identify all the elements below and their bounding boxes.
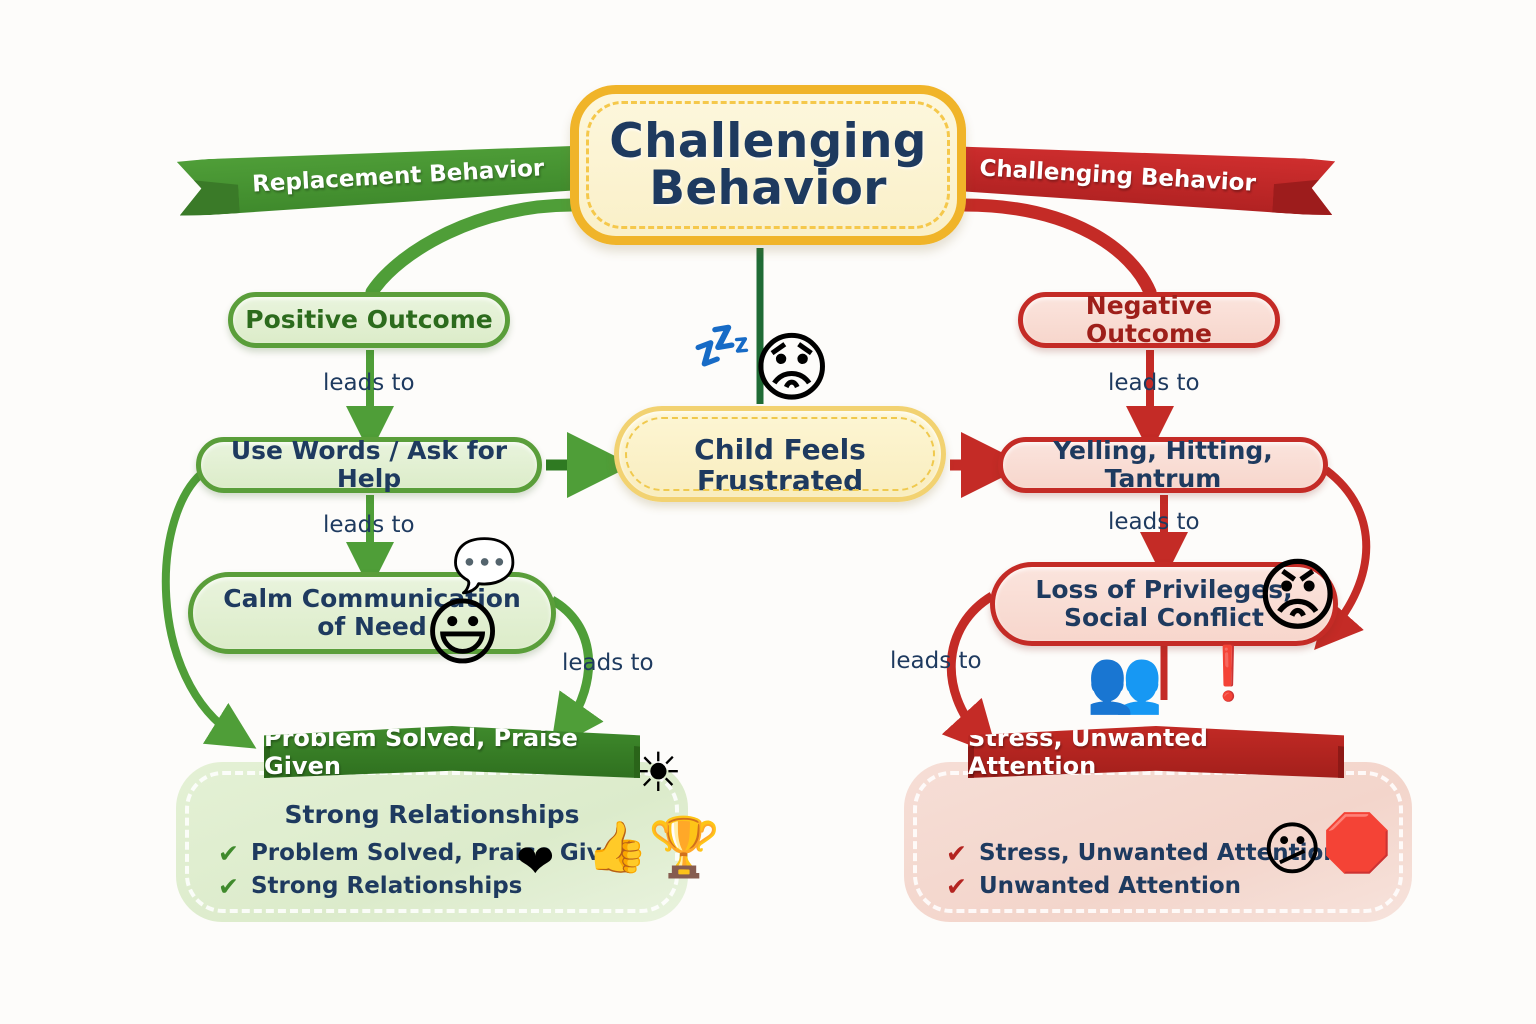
- edge-label-red-1: leads to: [1108, 370, 1200, 396]
- sun-icon: ☀: [634, 746, 682, 800]
- node-use-words[interactable]: Use Words / Ask for Help: [196, 437, 542, 493]
- list-item-label: Strong Relationships: [251, 873, 522, 899]
- node-yelling-hitting-tantrum[interactable]: Yelling, Hitting, Tantrum: [998, 437, 1328, 493]
- check-icon: ✔: [946, 874, 967, 899]
- happy-boy-icon: 😃: [424, 596, 501, 670]
- edge-label-red-2: leads to: [1108, 509, 1200, 535]
- two-children-icon: 👥: [1086, 650, 1163, 712]
- node-positive-outcome-label: Positive Outcome: [245, 306, 492, 334]
- check-icon: ✔: [218, 874, 239, 899]
- warning-icon: ❗: [1196, 648, 1261, 700]
- list-item-label: Unwanted Attention: [979, 873, 1241, 899]
- node-use-words-label: Use Words / Ask for Help: [201, 437, 537, 493]
- node-loss-line-2: Social Conflict: [1035, 604, 1292, 632]
- green-card-checklist: ✔ Problem Solved, Praise Given ✔ Strong …: [218, 840, 634, 906]
- node-negative-outcome-label: Negative Outcome: [1023, 292, 1275, 348]
- node-center-label: Child Feels Frustrated: [619, 434, 941, 497]
- heart-icon: ❤: [516, 838, 555, 884]
- node-positive-outcome[interactable]: Positive Outcome: [228, 292, 510, 348]
- edge-label-green-1: leads to: [323, 370, 415, 396]
- stop-sign-icon: 🛑: [1322, 816, 1392, 872]
- list-item: ✔ Strong Relationships: [218, 873, 634, 899]
- diagram-canvas: Challenging Behavior Replacement Behavio…: [0, 0, 1536, 1024]
- check-icon: ✔: [218, 841, 239, 866]
- ribbon-right-label: Challenging Behavior: [979, 155, 1257, 196]
- list-item-label: Problem Solved, Praise Given: [251, 840, 634, 866]
- thumbs-up-icon: 👍: [586, 822, 648, 872]
- edge-label-green-3: leads to: [562, 650, 654, 676]
- title-line-2: Behavior: [649, 161, 887, 216]
- sad-boy-icon: 😟: [752, 330, 831, 406]
- list-item: ✔ Problem Solved, Praise Given: [218, 840, 634, 866]
- angry-boy-icon: 😡: [1256, 556, 1339, 636]
- ribbon-left-label: Replacement Behavior: [251, 155, 544, 197]
- edge-label-green-2: leads to: [323, 512, 415, 538]
- node-negative-outcome[interactable]: Negative Outcome: [1018, 292, 1280, 348]
- node-yelling-label: Yelling, Hitting, Tantrum: [1003, 437, 1323, 493]
- speech-bubble-icon: 💬: [452, 540, 517, 592]
- thought-cloud-icon: 💤: [692, 322, 752, 370]
- sad-face-icon: 😕: [1262, 820, 1322, 878]
- red-card-ribbon[interactable]: Stress, Unwanted Attention: [968, 726, 1344, 778]
- green-card-ribbon[interactable]: Problem Solved, Praise Given: [264, 726, 640, 778]
- trophy-icon: 🏆: [648, 818, 720, 876]
- check-icon: ✔: [946, 841, 967, 866]
- page-title: Challenging Behavior: [570, 85, 966, 245]
- edge-label-red-3: leads to: [890, 648, 982, 674]
- node-child-feels-frustrated[interactable]: Child Feels Frustrated: [614, 406, 946, 502]
- node-loss-line-1: Loss of Privileges,: [1035, 576, 1292, 604]
